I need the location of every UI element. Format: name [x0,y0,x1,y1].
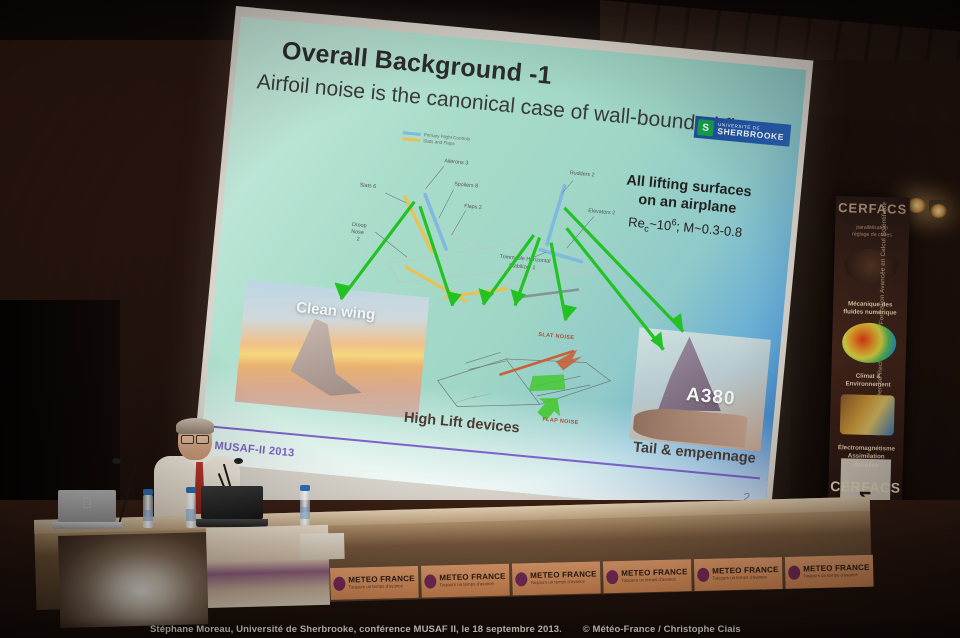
bottle-label [143,510,153,521]
aircraft-label: Nose [351,229,364,236]
apple-logo-icon:  [82,496,92,511]
bottle-label [300,507,310,519]
banner-tagline: Toujours un temps d'avance [530,579,596,585]
bottle-cap [143,489,153,495]
meteo-france-small-poster [300,533,345,560]
photo-caption: Stéphane Moreau, Université de Sherbrook… [150,624,741,635]
legend-swatch-primary-controls [403,131,421,136]
glasses-icon [181,435,209,442]
bottle-label [186,509,196,521]
a380-tail-photo: A380 [629,327,771,451]
microphone-head-left [112,458,121,464]
meteo-france-wordmark: METEO FRANCEToujours un temps d'avance [621,569,688,584]
bottle-cap [186,487,196,493]
banner-decor-dark [844,248,899,283]
clean-wing-label: Clean wing [243,294,428,328]
photo-credit: © Météo-France / Christophe Ciais [583,624,741,635]
macbook-base [52,522,122,529]
sherbrooke-mark-icon: S [697,119,714,136]
meteo-france-wordmark: METEO FRANCEToujours un temps d'avance [803,564,870,579]
sherbrooke-wordmark: UNIVERSITÉ DE SHERBROOKE [717,122,785,141]
meteo-france-banner-cell: METEO FRANCEToujours un temps d'avance [512,561,601,595]
cfd-globe-image [842,322,897,363]
banner-tagline: Toujours un temps d'avance [712,575,778,581]
meteo-france-wordmark: METEO FRANCEToujours un temps d'avance [530,571,597,586]
clean-wing-photo: Clean wing [235,280,430,419]
banner-tagline: Toujours un temps d'avance [348,584,414,590]
banner-section-title-2: Climat &Environnement [837,372,899,390]
climate-environment-image [840,394,895,435]
microphone-head-right [234,458,243,464]
meteo-france-wordmark: METEO FRANCEToujours un temps d'avance [348,575,415,590]
meteo-france-banner-cell: METEO FRANCEToujours un temps d'avance [421,564,510,598]
meteo-france-wordmark: METEO FRANCEToujours un temps d'avance [712,567,779,582]
water-bottle [300,490,310,526]
meteo-france-logo-icon [606,570,618,584]
meteo-france-banner-cell: METEO FRANCEToujours un temps d'avance [330,566,419,600]
banner-top-word: CERFACS [836,200,910,217]
dell-lid [201,486,263,519]
meteo-france-banner-cell: METEO FRANCEToujours un temps d'avance [785,555,874,589]
meteo-france-banner-cell: METEO FRANCEToujours un temps d'avance [603,559,692,593]
dell-laptop[interactable] [196,486,268,532]
banner-tagline: Toujours un temps d'avance [803,573,869,579]
water-bottle [186,492,196,528]
presentation-slide: Overall Background -1 Airfoil noise is t… [199,17,807,516]
aircraft-label: 2 [356,236,360,242]
meteo-france-logo-icon [697,568,709,582]
meteo-france-logo-icon [788,566,800,580]
caption-text: Stéphane Moreau, Université de Sherbrook… [150,624,562,635]
formula-tail: ; M~0.3-0.8 [676,219,743,240]
meteo-france-banner-cell: METEO FRANCEToujours un temps d'avance [694,557,783,591]
macbook-lid:  [58,490,116,522]
wing-shape [284,316,372,399]
photograph: Overall Background -1 Airfoil noise is t… [0,0,960,638]
banner-tagline: Toujours un temps d'avance [621,577,687,583]
meteo-france-wordmark: METEO FRANCEToujours un temps d'avance [439,573,506,588]
legend-swatch-slats-flaps [402,137,420,142]
speaker-hair [176,418,214,434]
satellite-cyclone-poster [58,532,208,628]
meteo-france-logo-icon [333,577,345,591]
formula-rest: ~10 [649,216,672,233]
water-bottle [143,494,153,528]
cerfacs-banner: CERFACS parallélisationréglage de codes … [828,196,910,518]
macbook-laptop[interactable]:  [52,490,122,534]
banner-section-title-1: Mécanique desfluides numérique [839,300,901,318]
banner-top-subtitle: parallélisationréglage de codes [835,224,909,240]
bottle-cap [300,485,310,491]
projection-screen: Overall Background -1 Airfoil noise is t… [190,6,814,550]
a380-label: A380 [685,384,736,411]
spotlight-2 [930,204,947,218]
banner-tagline: Toujours un temps d'avance [439,582,505,588]
meteo-france-logo-icon [515,572,527,586]
meteo-france-logo-icon [424,574,436,588]
